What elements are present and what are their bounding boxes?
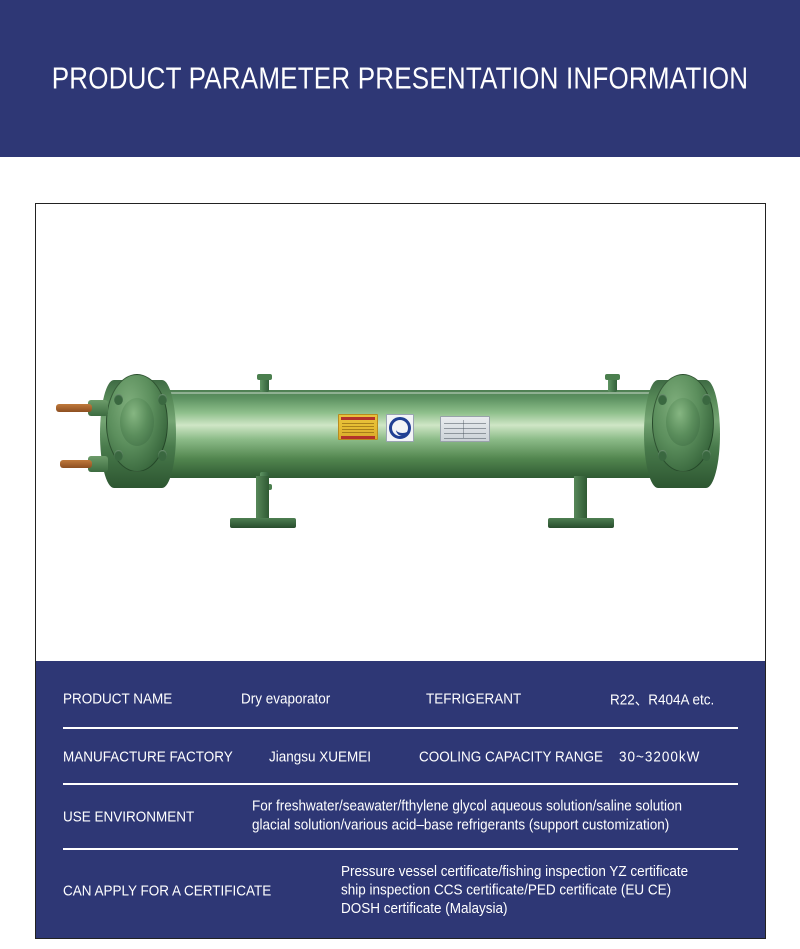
bolt-icon — [114, 394, 123, 405]
row-label-use-environment: USE ENVIRONMENT — [63, 808, 194, 825]
support-saddle-icon — [548, 476, 614, 528]
heat-exchanger-illustration — [48, 372, 754, 532]
support-saddle-icon — [230, 476, 296, 528]
row-label-product-name: PRODUCT NAME — [63, 690, 172, 707]
row-value-manufacture-factory: Jiangsu XUEMEI — [269, 748, 371, 765]
row-divider — [63, 848, 738, 850]
table-row: MANUFACTURE FACTORY Jiangsu XUEMEI COOLI… — [36, 741, 765, 771]
certification-logo-sticker-icon — [386, 414, 414, 442]
bolt-icon — [114, 450, 123, 461]
row-value-cooling-capacity-range: 30~3200kW — [619, 748, 700, 765]
top-vent-stub-icon — [260, 378, 269, 392]
row-label-can-apply-for-a-certificate: CAN APPLY FOR A CERTIFICATE — [63, 882, 271, 899]
page-title: PRODUCT PARAMETER PRESENTATION INFORMATI… — [52, 60, 748, 97]
row-value-refrigerant: R22、R404A etc. — [610, 687, 714, 709]
certificate-line-2: ship inspection CCS certificate/PED cert… — [341, 880, 688, 899]
shell-highlight-icon — [144, 392, 664, 394]
bolt-icon — [658, 450, 667, 461]
top-vent-cap-icon — [605, 374, 620, 380]
bolt-icon — [658, 394, 667, 405]
row-label-refrigerant: TEFRIGERANT — [426, 690, 521, 707]
use-environment-line-2: glacial solution/various acid–base refri… — [252, 815, 682, 834]
top-vent-stub-icon — [608, 378, 617, 392]
warning-label-sticker-icon — [338, 414, 378, 440]
bolt-icon — [158, 394, 167, 405]
row-value-can-apply-for-a-certificate: Pressure vessel certificate/fishing insp… — [341, 861, 688, 917]
certificate-line-1: Pressure vessel certificate/fishing insp… — [341, 861, 688, 880]
bolt-icon — [158, 450, 167, 461]
use-environment-line-1: For freshwater/seawater/fthylene glycol … — [252, 796, 682, 815]
page-header-banner: PRODUCT PARAMETER PRESENTATION INFORMATI… — [0, 0, 800, 157]
spec-table: PRODUCT NAME Dry evaporator TEFRIGERANT … — [36, 661, 765, 938]
top-vent-cap-icon — [257, 374, 272, 380]
product-parameter-page: PRODUCT PARAMETER PRESENTATION INFORMATI… — [0, 0, 800, 949]
lower-copper-pipe-icon — [60, 460, 92, 468]
row-value-product-name: Dry evaporator — [241, 690, 330, 707]
product-image — [36, 204, 765, 661]
upper-copper-pipe-icon — [56, 404, 92, 412]
content-card-frame: PRODUCT NAME Dry evaporator TEFRIGERANT … — [35, 203, 766, 939]
row-label-cooling-capacity-range: COOLING CAPACITY RANGE — [419, 748, 603, 765]
table-row: CAN APPLY FOR A CERTIFICATE Pressure ves… — [36, 859, 765, 925]
table-row: USE ENVIRONMENT For freshwater/seawater/… — [36, 793, 765, 839]
row-label-manufacture-factory: MANUFACTURE FACTORY — [63, 748, 233, 765]
row-divider — [63, 783, 738, 785]
bolt-icon — [702, 450, 711, 461]
left-dome-icon — [120, 398, 154, 446]
row-divider — [63, 727, 738, 729]
nameplate-sticker-icon — [440, 416, 490, 442]
certificate-line-3: DOSH certificate (Malaysia) — [341, 899, 688, 918]
table-row: PRODUCT NAME Dry evaporator TEFRIGERANT … — [36, 683, 765, 713]
bolt-icon — [702, 394, 711, 405]
row-value-use-environment: For freshwater/seawater/fthylene glycol … — [252, 796, 682, 833]
right-dome-icon — [666, 398, 700, 446]
